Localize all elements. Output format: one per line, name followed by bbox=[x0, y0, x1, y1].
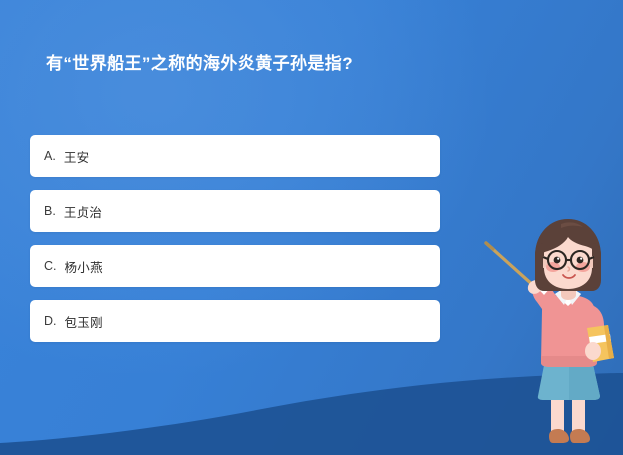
teacher-illustration-icon bbox=[473, 210, 623, 455]
option-letter: A. bbox=[44, 149, 56, 163]
option-letter: B. bbox=[44, 204, 56, 218]
quiz-screen: 有“世界船王”之称的海外炎黄子孙是指? A. 王安 B. 王贞治 C. 杨小燕 … bbox=[0, 0, 623, 455]
option-letter: C. bbox=[44, 259, 57, 273]
options-list: A. 王安 B. 王贞治 C. 杨小燕 D. 包玉刚 bbox=[30, 135, 440, 355]
option-label: 杨小燕 bbox=[65, 257, 103, 276]
option-card-b[interactable]: B. 王贞治 bbox=[30, 190, 440, 232]
option-letter: D. bbox=[44, 314, 57, 328]
option-label: 王安 bbox=[64, 147, 90, 166]
option-card-a[interactable]: A. 王安 bbox=[30, 135, 440, 177]
option-label: 包玉刚 bbox=[65, 312, 103, 331]
option-card-d[interactable]: D. 包玉刚 bbox=[30, 300, 440, 342]
question-title: 有“世界船王”之称的海外炎黄子孙是指? bbox=[46, 50, 476, 78]
pointer-stick-icon bbox=[486, 243, 535, 287]
option-label: 王贞治 bbox=[64, 202, 102, 221]
option-card-c[interactable]: C. 杨小燕 bbox=[30, 245, 440, 287]
